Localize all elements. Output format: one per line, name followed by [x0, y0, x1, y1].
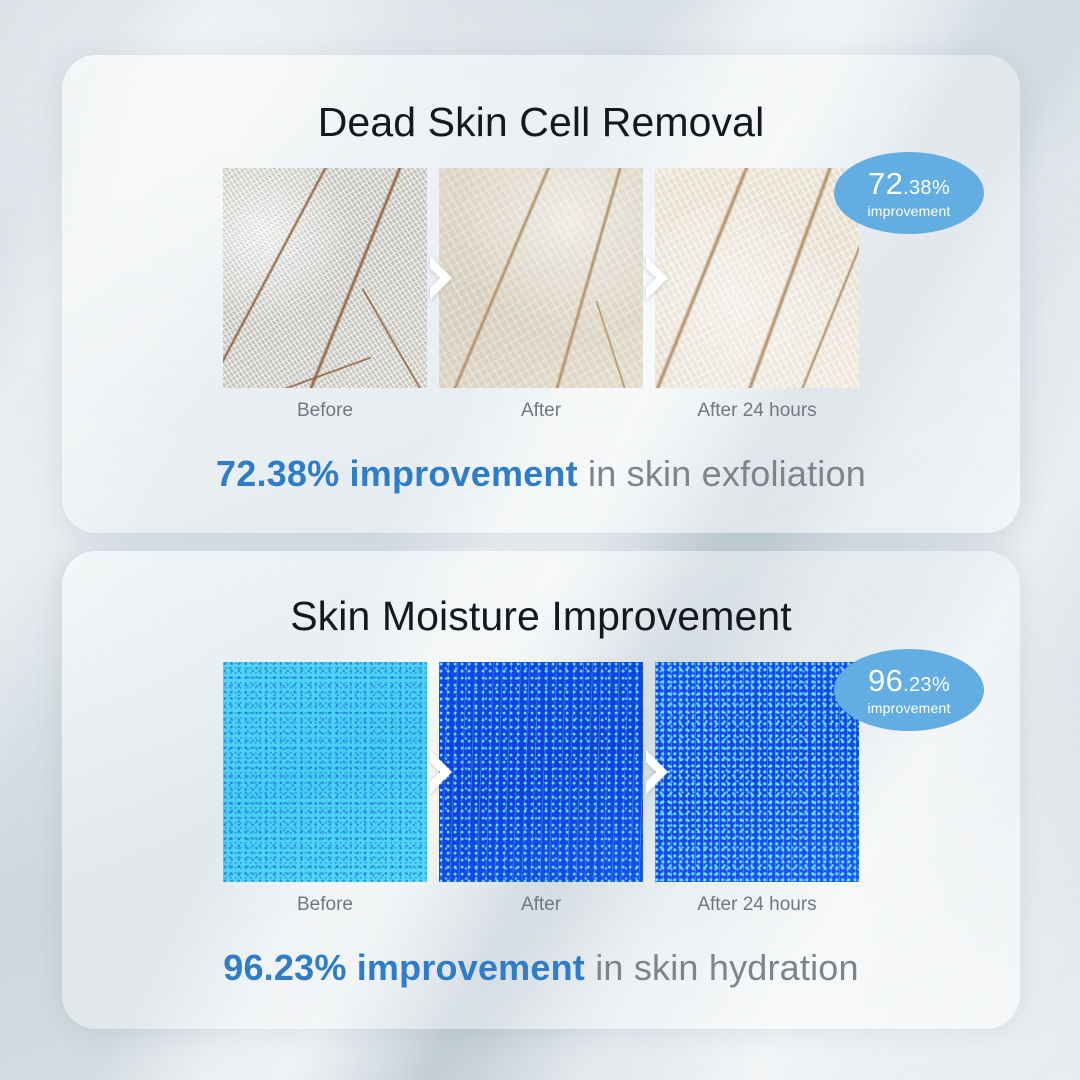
- caption-after-24-hours: After 24 hours: [655, 894, 859, 916]
- summary-line: 96.23% improvement in skin hydration: [62, 947, 1020, 989]
- moisture-map-after-high: [439, 662, 643, 882]
- image-comparison-row: [223, 168, 859, 388]
- skin-after-24h-plump: [655, 168, 859, 388]
- skin-after-smoother: [439, 168, 643, 388]
- skin-before-dry-flaky: [223, 168, 427, 388]
- caption-row: Before After After 24 hours: [223, 400, 859, 426]
- page-title: Skin Moisture Improvement: [62, 551, 1020, 640]
- badge-label: improvement: [867, 204, 950, 218]
- chevron-right-icon: [424, 254, 458, 302]
- page-title: Dead Skin Cell Removal: [62, 55, 1020, 146]
- badge-value-decimal: .38%: [903, 177, 950, 199]
- status-badge: 96.23% improvement: [834, 649, 984, 731]
- summary-rest: in skin hydration: [585, 947, 859, 988]
- caption-after-24-hours: After 24 hours: [655, 400, 859, 422]
- chevron-right-icon: [424, 748, 458, 796]
- moisture-map-after-24h-high: [655, 662, 859, 882]
- caption-before: Before: [223, 894, 427, 916]
- caption-after: After: [439, 894, 643, 916]
- chevron-right-icon: [640, 254, 674, 302]
- status-badge: 72.38% improvement: [834, 152, 984, 234]
- badge-value-decimal: .23%: [903, 674, 950, 696]
- caption-after: After: [439, 400, 643, 422]
- panel-dead-skin-cell-removal: Dead Skin Cell Removal 72.38% improvemen…: [62, 55, 1020, 533]
- image-comparison-row: [223, 662, 859, 882]
- chevron-right-icon: [640, 748, 674, 796]
- summary-rest: in skin exfoliation: [578, 453, 866, 494]
- badge-value-whole: 96: [868, 663, 903, 698]
- badge-label: improvement: [867, 701, 950, 715]
- panel-skin-moisture-improvement: Skin Moisture Improvement 96.23% improve…: [62, 551, 1020, 1029]
- caption-row: Before After After 24 hours: [223, 894, 859, 920]
- caption-before: Before: [223, 400, 427, 422]
- summary-line: 72.38% improvement in skin exfoliation: [62, 453, 1020, 495]
- summary-highlight: 96.23% improvement: [223, 947, 585, 988]
- moisture-map-before-low: [223, 662, 427, 882]
- summary-highlight: 72.38% improvement: [216, 453, 578, 494]
- badge-value-whole: 72: [868, 166, 903, 201]
